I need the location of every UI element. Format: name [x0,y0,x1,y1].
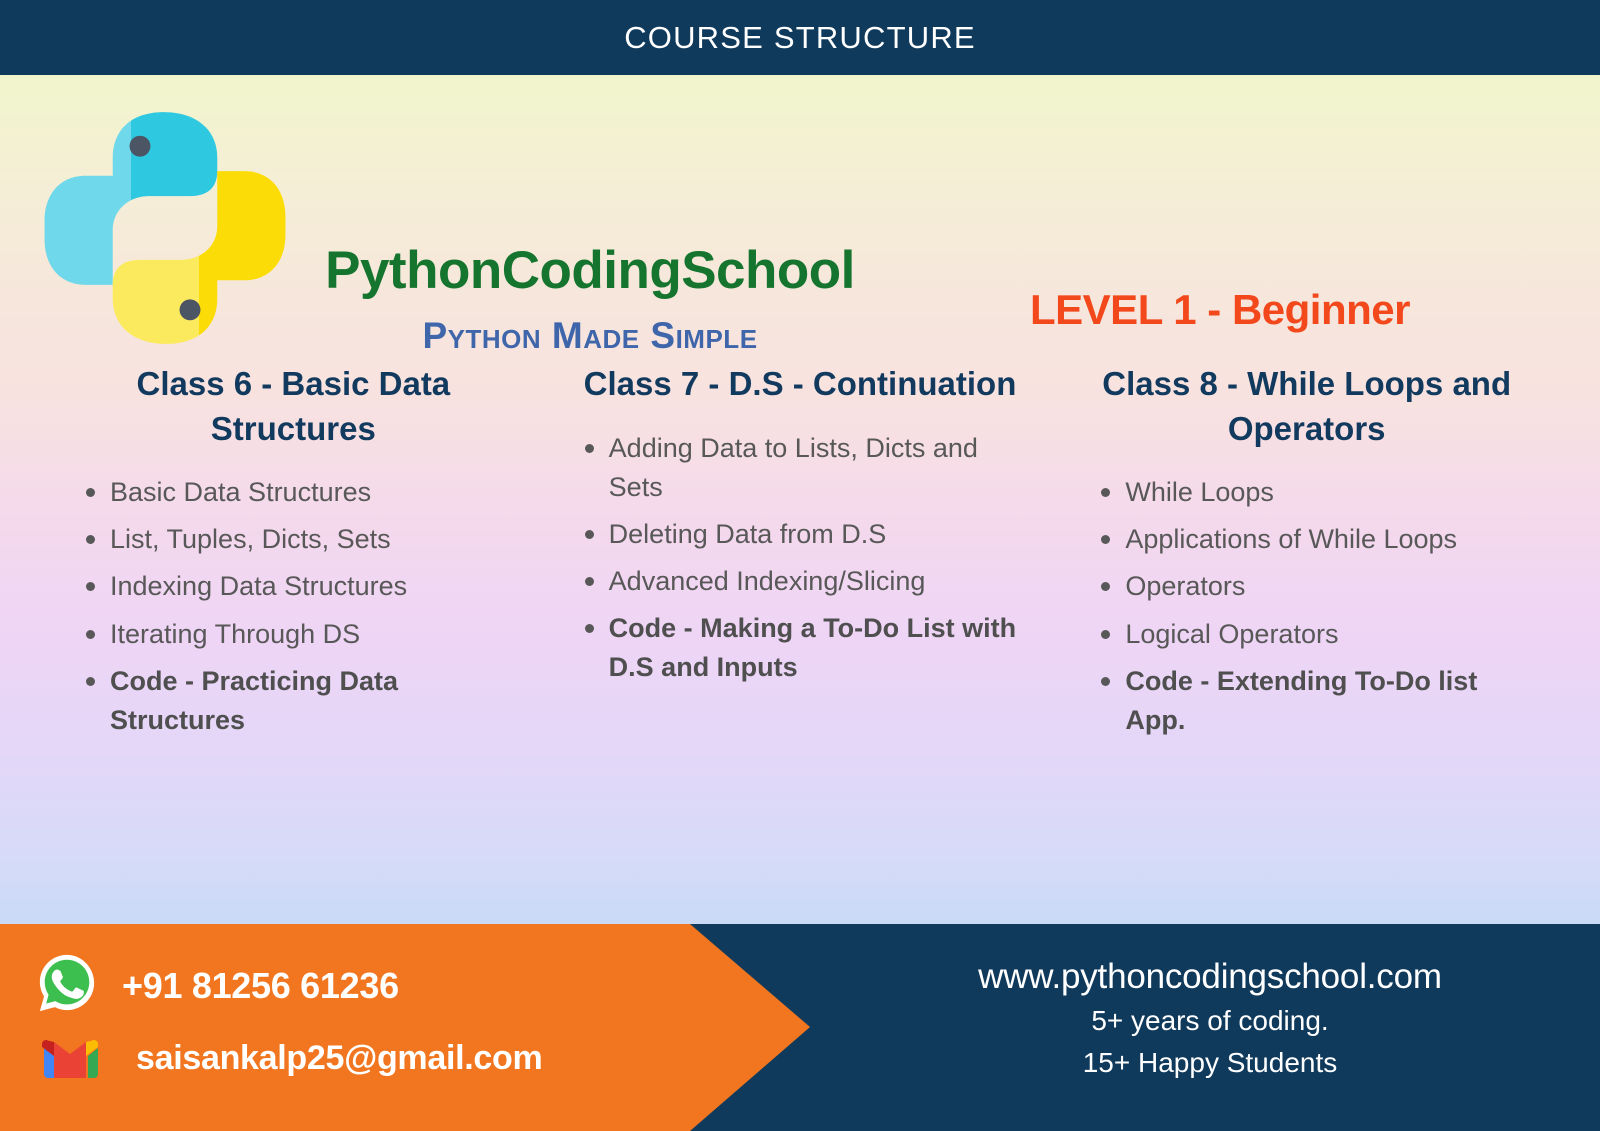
brand-text-block: PythonCodingSchool Python Made Simple [300,243,880,357]
list-item: Adding Data to Lists, Dicts and Sets [579,429,1032,507]
whatsapp-contact[interactable]: +91 81256 61236 [36,952,399,1019]
column-bullet-list: Adding Data to Lists, Dicts and Sets Del… [569,429,1032,688]
email-contact[interactable]: saisankalp25@gmail.com [42,1034,542,1083]
experience-text: 5+ years of coding. [820,1000,1600,1042]
list-item: Iterating Through DS [80,615,525,654]
header-bar: COURSE STRUCTURE [0,0,1600,75]
list-item: While Loops [1095,473,1538,512]
list-item: Code - Making a To-Do List with D.S and … [579,609,1032,687]
page-title: COURSE STRUCTURE [624,20,976,56]
course-column-1: Class 6 - Basic Data Structures Basic Da… [40,362,547,748]
list-item: Advanced Indexing/Slicing [579,562,1032,601]
brand-tagline: Python Made Simple [300,315,880,357]
email-address: saisankalp25@gmail.com [136,1039,542,1078]
brand-name: PythonCodingSchool [300,243,880,299]
whatsapp-icon [36,952,98,1019]
column-bullet-list: While Loops Applications of While Loops … [1075,473,1538,740]
list-item: Deleting Data from D.S [579,515,1032,554]
footer-info-block: www.pythoncodingschool.com 5+ years of c… [820,954,1600,1084]
students-text: 15+ Happy Students [820,1042,1600,1084]
course-column-2: Class 7 - D.S - Continuation Adding Data… [547,362,1054,748]
list-item: Basic Data Structures [80,473,525,512]
list-item: Logical Operators [1095,615,1538,654]
python-logo-icon [40,103,290,353]
course-columns: Class 6 - Basic Data Structures Basic Da… [0,362,1600,748]
website-url[interactable]: www.pythoncodingschool.com [820,954,1600,1000]
level-badge: LEVEL 1 - Beginner [1030,286,1410,334]
list-item: Code - Practicing Data Structures [80,662,525,740]
course-column-3: Class 8 - While Loops and Operators Whil… [1053,362,1560,748]
footer-bar: +91 81256 61236 saisankalp25@gmail.com w… [0,924,1600,1131]
phone-number: +91 81256 61236 [122,965,399,1007]
column-title: Class 8 - While Loops and Operators [1075,362,1538,451]
gmail-icon [42,1034,98,1083]
column-title: Class 7 - D.S - Continuation [569,362,1032,407]
poster-canvas: COURSE STRUCTURE [0,0,1600,1131]
brand-row: PythonCodingSchool Python Made Simple LE… [0,88,1600,358]
list-item: Operators [1095,567,1538,606]
list-item: Code - Extending To-Do list App. [1095,662,1538,740]
column-bullet-list: Basic Data Structures List, Tuples, Dict… [62,473,525,740]
column-title: Class 6 - Basic Data Structures [62,362,525,451]
list-item: List, Tuples, Dicts, Sets [80,520,525,559]
list-item: Applications of While Loops [1095,520,1538,559]
list-item: Indexing Data Structures [80,567,525,606]
